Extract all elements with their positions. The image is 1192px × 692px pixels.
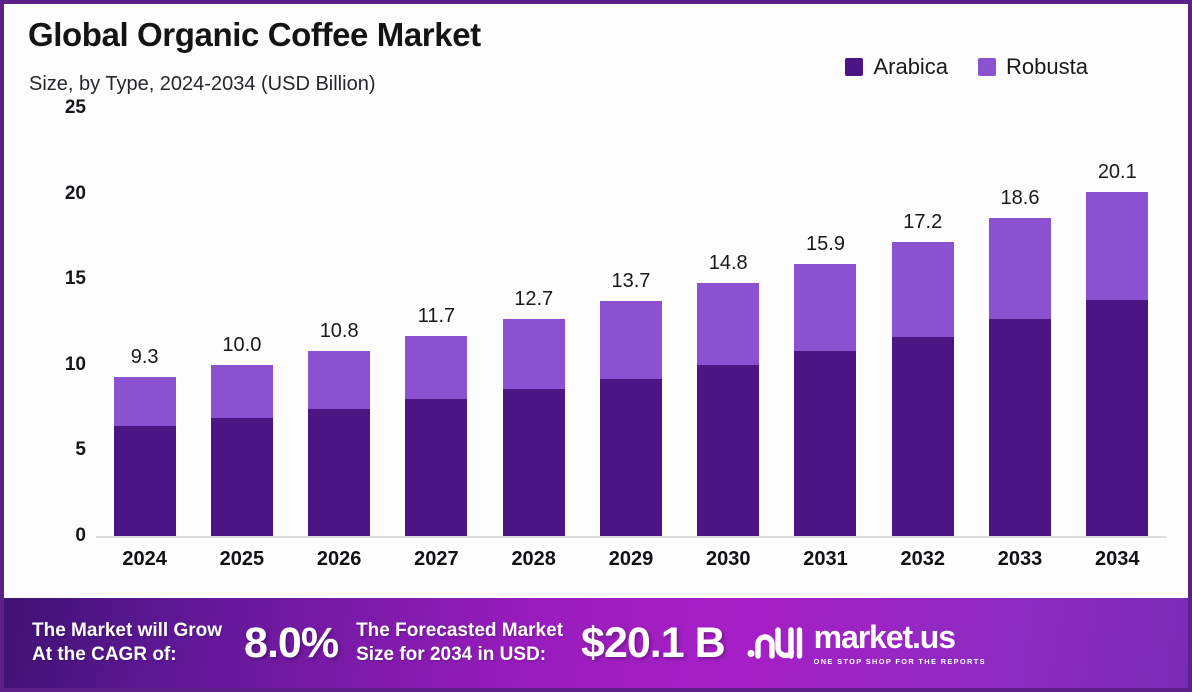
bar-total-label: 18.6: [960, 187, 1080, 210]
y-axis: 0510152025: [4, 108, 96, 598]
bar-group[interactable]: 13.7: [583, 108, 679, 536]
page-title: Global Organic Coffee Market: [28, 16, 481, 54]
bar-segment-arabica[interactable]: [503, 389, 565, 536]
bar-segment-robusta[interactable]: [989, 218, 1051, 319]
bar-stack[interactable]: [989, 218, 1051, 536]
bar-stack[interactable]: [794, 264, 856, 536]
bar-segment-arabica[interactable]: [892, 337, 954, 536]
y-axis-tick: 0: [75, 525, 86, 547]
bar-segment-robusta[interactable]: [1086, 192, 1148, 300]
x-axis-label: 2029: [583, 548, 679, 571]
logo-wordmark: market.us: [814, 621, 986, 653]
market-us-logo-icon: [747, 624, 805, 662]
bar-segment-robusta[interactable]: [697, 283, 759, 365]
cagr-label-line1: The Market will Grow: [32, 619, 222, 643]
x-axis-label: 2034: [1069, 548, 1165, 571]
x-axis-labels: 2024202520262027202820292030203120322033…: [96, 548, 1166, 571]
bar-stack[interactable]: [211, 365, 273, 536]
legend-item-robusta: Robusta: [978, 54, 1088, 80]
bar-segment-robusta[interactable]: [503, 319, 565, 389]
forecast-label-line1: The Forecasted Market: [356, 619, 563, 643]
bar-segment-arabica[interactable]: [308, 409, 370, 536]
x-axis-label: 2026: [291, 548, 387, 571]
bar-segment-arabica[interactable]: [114, 426, 176, 536]
bar-group[interactable]: 18.6: [972, 108, 1068, 536]
bar-total-label: 20.1: [1057, 161, 1177, 184]
x-axis-label: 2030: [680, 548, 776, 571]
cagr-label: The Market will Grow At the CAGR of:: [32, 619, 222, 668]
y-axis-tick: 25: [65, 97, 86, 119]
bar-segment-robusta[interactable]: [211, 365, 273, 418]
bar-stack[interactable]: [405, 336, 467, 536]
infographic-container: Global Organic Coffee Market Size, by Ty…: [0, 0, 1192, 692]
bar-segment-robusta[interactable]: [308, 351, 370, 409]
bar-stack[interactable]: [892, 242, 954, 536]
bar-total-label: 17.2: [863, 211, 983, 234]
x-axis-label: 2028: [486, 548, 582, 571]
y-axis-tick: 15: [65, 268, 86, 290]
x-axis-baseline: [96, 536, 1166, 538]
y-axis-tick: 5: [75, 439, 86, 461]
bar-series-container: 9.310.010.811.712.713.714.815.917.218.62…: [96, 108, 1166, 536]
bar-total-label: 15.9: [765, 233, 885, 256]
x-axis-label: 2033: [972, 548, 1068, 571]
y-axis-tick: 20: [65, 183, 86, 205]
bar-stack[interactable]: [114, 377, 176, 536]
bar-group[interactable]: 17.2: [875, 108, 971, 536]
bar-group[interactable]: 9.3: [97, 108, 193, 536]
bar-group[interactable]: 20.1: [1069, 108, 1165, 536]
forecast-label: The Forecasted Market Size for 2034 in U…: [356, 619, 563, 668]
bar-segment-robusta[interactable]: [405, 336, 467, 399]
bar-stack[interactable]: [503, 319, 565, 536]
bar-segment-arabica[interactable]: [989, 319, 1051, 536]
bar-segment-arabica[interactable]: [794, 351, 856, 536]
bar-group[interactable]: 15.9: [777, 108, 873, 536]
forecast-value: $20.1 B: [581, 619, 725, 668]
logo-tagline: ONE STOP SHOP FOR THE REPORTS: [814, 657, 986, 666]
bar-segment-arabica[interactable]: [600, 379, 662, 537]
square-swatch-icon: [978, 58, 996, 76]
bar-group[interactable]: 12.7: [486, 108, 582, 536]
square-swatch-icon: [845, 58, 863, 76]
cagr-value: 8.0%: [244, 619, 338, 668]
cagr-label-line2: At the CAGR of:: [32, 643, 222, 667]
legend-label-robusta: Robusta: [1006, 54, 1088, 80]
legend-label-arabica: Arabica: [873, 54, 948, 80]
bar-segment-arabica[interactable]: [211, 418, 273, 536]
bar-segment-robusta[interactable]: [892, 242, 954, 338]
forecast-label-line2: Size for 2034 in USD:: [356, 643, 563, 667]
legend-item-arabica: Arabica: [845, 54, 948, 80]
bar-segment-arabica[interactable]: [405, 399, 467, 536]
y-axis-tick: 10: [65, 354, 86, 376]
bar-stack[interactable]: [600, 301, 662, 536]
x-axis-label: 2027: [388, 548, 484, 571]
x-axis-label: 2025: [194, 548, 290, 571]
bar-group[interactable]: 11.7: [388, 108, 484, 536]
page-subtitle: Size, by Type, 2024-2034 (USD Billion): [29, 73, 375, 96]
chart-header: Global Organic Coffee Market Size, by Ty…: [4, 4, 1188, 108]
x-axis-label: 2024: [97, 548, 193, 571]
market-us-logo[interactable]: market.us ONE STOP SHOP FOR THE REPORTS: [747, 621, 986, 666]
bar-segment-arabica[interactable]: [697, 365, 759, 536]
bar-segment-robusta[interactable]: [600, 301, 662, 378]
bar-segment-robusta[interactable]: [794, 264, 856, 351]
bar-group[interactable]: 14.8: [680, 108, 776, 536]
chart-legend: Arabica Robusta: [845, 54, 1088, 80]
x-axis-label: 2031: [777, 548, 873, 571]
bar-stack[interactable]: [308, 351, 370, 536]
x-axis-label: 2032: [875, 548, 971, 571]
bar-stack[interactable]: [697, 283, 759, 536]
chart-plot-area: 0510152025 9.310.010.811.712.713.714.815…: [4, 108, 1188, 598]
footer-banner: The Market will Grow At the CAGR of: 8.0…: [4, 598, 1188, 688]
bar-group[interactable]: 10.8: [291, 108, 387, 536]
logo-text: market.us ONE STOP SHOP FOR THE REPORTS: [814, 621, 986, 666]
bar-segment-robusta[interactable]: [114, 377, 176, 427]
bar-segment-arabica[interactable]: [1086, 300, 1148, 536]
bar-stack[interactable]: [1086, 192, 1148, 536]
bar-group[interactable]: 10.0: [194, 108, 290, 536]
